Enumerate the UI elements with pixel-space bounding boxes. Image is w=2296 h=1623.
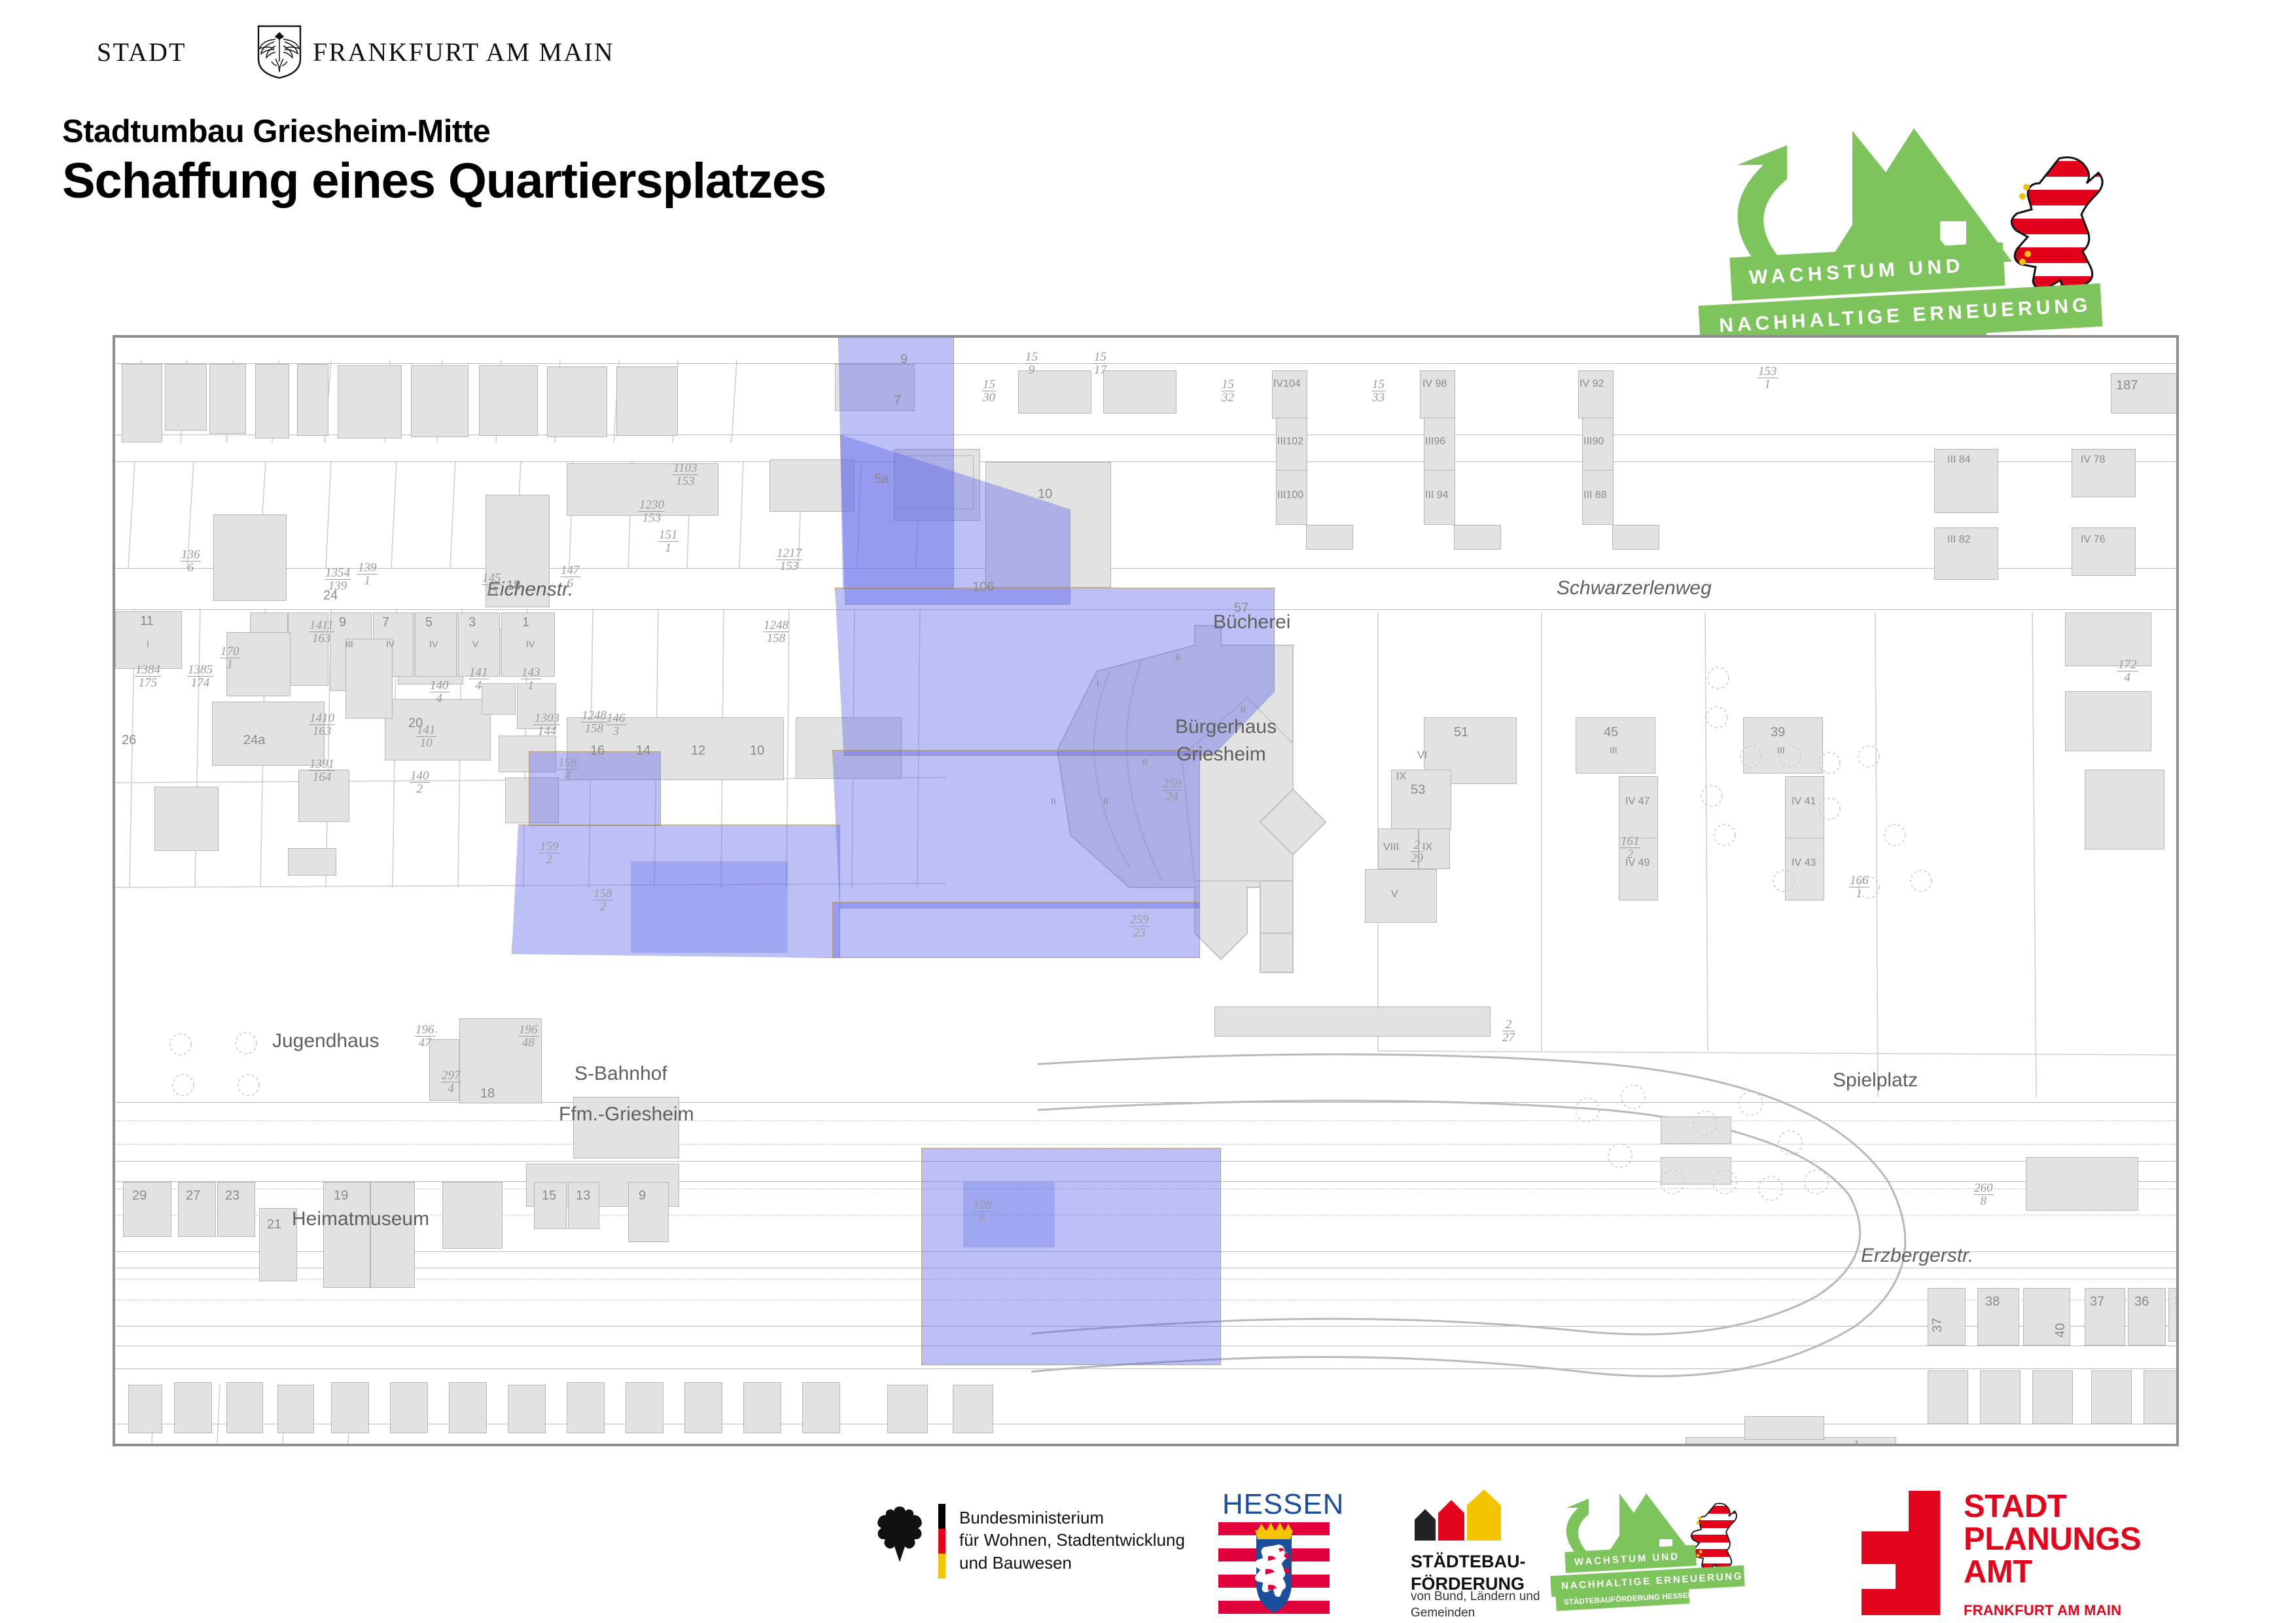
house-number: III 84 <box>1947 454 1971 466</box>
house-number: 9 <box>900 352 908 367</box>
house-number: 16 <box>590 743 605 758</box>
house-number: 29 <box>132 1188 147 1204</box>
house-number: 9 <box>339 615 346 630</box>
place-label-buecherei: Bücherei <box>1213 611 1290 633</box>
hessen-logo: HESSEN <box>1218 1488 1336 1613</box>
hessen-lion-icon <box>1999 149 2110 306</box>
house-number: 5a <box>874 472 889 487</box>
house-number: 23 <box>225 1188 239 1204</box>
spa-subline: FRANKFURT AM MAIN <box>1964 1602 2121 1619</box>
storey-mark: III <box>1777 745 1785 755</box>
house-number: 11 <box>140 614 154 629</box>
storey-mark: III <box>345 639 353 649</box>
sbf-sub1: von Bund, Ländern und <box>1411 1589 1540 1605</box>
house-number: 24a <box>243 733 265 748</box>
house-number: IV 41 <box>1792 796 1816 808</box>
spa-line1: STADT <box>1964 1491 2141 1524</box>
city-logo-text-right: FRANKFURT AM MAIN <box>313 37 614 67</box>
bmwsb-line2: für Wohnen, Stadtentwicklung <box>959 1529 1185 1551</box>
house-number: 36 <box>2134 1294 2149 1310</box>
house-number: 7 <box>894 393 901 408</box>
house-number: IV 92 <box>1580 378 1604 390</box>
flag-gold <box>938 1554 945 1578</box>
place-label-griesheim: Griesheim <box>1176 743 1266 766</box>
house-number: IV 98 <box>1422 378 1447 390</box>
place-label-heimatmuseum: Heimatmuseum <box>292 1208 429 1230</box>
footer-logos: Bundesministerium für Wohnen, Stadtentwi… <box>0 1472 2296 1623</box>
storey-mark: II <box>1241 704 1246 715</box>
storey-mark: IV <box>526 639 535 649</box>
house-number: 38 <box>1985 1294 2000 1310</box>
house-number: 9 <box>639 1188 646 1204</box>
house-number: 37 <box>2090 1294 2104 1310</box>
house-number: III100 <box>1277 490 1303 501</box>
house-number: 106 <box>972 580 994 595</box>
house-number: III102 <box>1277 436 1303 448</box>
bmwsb-logo: Bundesministerium für Wohnen, Stadtentwi… <box>870 1492 1210 1590</box>
storey-mark: III <box>1610 745 1617 755</box>
city-logo-text-left: STADT <box>97 37 186 67</box>
place-label-jugendhaus: Jugendhaus <box>272 1030 379 1052</box>
house-number: 19 <box>334 1188 348 1204</box>
house-number: 15 <box>542 1188 556 1204</box>
house-number: 18 <box>506 579 521 594</box>
storey-mark: V <box>472 639 478 649</box>
bmwsb-line1: Bundesministerium <box>959 1507 1185 1529</box>
program-logo-footer: WACHSTUM UND NACHHALTIGE ERNEUERUNG STÄD… <box>1557 1488 1799 1613</box>
street-label-schwarzerlenweg: Schwarzerlenweg <box>1557 577 1712 599</box>
house-number: 53 <box>1411 783 1425 798</box>
house-number: 21 <box>267 1217 281 1232</box>
house-number: III 94 <box>1425 490 1449 501</box>
city-of-frankfurt-logo: STADT FRANKFURT AM MAIN <box>97 34 516 80</box>
house-number: IV 76 <box>2081 534 2105 546</box>
house-number: 7 <box>382 615 389 630</box>
spa-line2: PLANUNGS <box>1964 1524 2141 1556</box>
house-number: 3 <box>468 615 476 630</box>
spa-line3: AMT <box>1964 1556 2141 1589</box>
eagle-crest-icon <box>256 22 303 79</box>
house-number: VIII <box>1383 842 1399 853</box>
house-number: III96 <box>1425 436 1445 448</box>
spa-mark-icon <box>1835 1491 1940 1615</box>
sbf-sub2: Gemeinden <box>1411 1605 1540 1622</box>
house-number: 37 <box>1930 1318 1945 1332</box>
hessen-wordmark: HESSEN <box>1222 1488 1344 1521</box>
page-title: Schaffung eines Quartiersplatzes <box>62 155 826 207</box>
house-number: 39 <box>1771 725 1785 740</box>
house-number: IX <box>1422 842 1432 853</box>
sbf-line1: STÄDTEBAU- <box>1411 1551 1526 1573</box>
house-number: IX <box>1396 771 1406 783</box>
house-number: 26 <box>122 733 136 748</box>
house-number: 18 <box>480 1086 495 1101</box>
place-label-spielplatz: Spielplatz <box>1833 1069 1918 1092</box>
houses-icon <box>1411 1489 1528 1543</box>
house-number: IV 47 <box>1625 796 1650 808</box>
storey-mark: II <box>1175 652 1180 662</box>
house-number: 40 <box>2053 1323 2068 1338</box>
house-number: 24 <box>323 588 338 603</box>
storey-mark: II <box>1051 796 1056 806</box>
storey-mark: I <box>1097 678 1099 688</box>
place-label-sbahnhof: S-Bahnhof <box>574 1063 667 1085</box>
house-number: III 82 <box>1947 534 1971 546</box>
house-number: 57 <box>1234 601 1248 616</box>
house-number: 35 <box>2175 1294 2179 1310</box>
house-number: V <box>1391 889 1398 901</box>
house-number: 14 <box>636 743 650 758</box>
house-number: 45 <box>1604 725 1618 740</box>
hessen-wappen-icon <box>1218 1522 1330 1617</box>
house-number: 1 <box>522 615 529 630</box>
house-number: 5 <box>425 615 433 630</box>
title-block: Stadtumbau Griesheim-Mitte Schaffung ein… <box>62 115 826 207</box>
storey-mark: IV <box>429 639 438 649</box>
house-number: IV 43 <box>1792 857 1816 869</box>
house-number: VI <box>1417 750 1427 762</box>
house-number: 27 <box>186 1188 200 1204</box>
storey-mark: II <box>1142 757 1148 767</box>
house-number: III90 <box>1583 436 1604 448</box>
place-label-buergerhaus: Bürgerhaus <box>1175 716 1277 738</box>
map-canvas: Eichenstr. Schwarzerlenweg Erzbergerstr.… <box>115 338 2176 1444</box>
house-number: 187 <box>2116 378 2138 393</box>
bundesadler-icon <box>870 1501 929 1567</box>
storey-mark: I <box>147 639 149 649</box>
house-number: IV 78 <box>2081 454 2105 466</box>
house-number: III 88 <box>1583 490 1607 501</box>
storey-mark: II <box>1103 796 1108 806</box>
flag-black <box>938 1504 945 1529</box>
house-number: 12 <box>691 743 705 758</box>
storey-mark: IV <box>386 639 395 649</box>
cadastral-map[interactable]: Eichenstr. Schwarzerlenweg Erzbergerstr.… <box>113 335 2179 1446</box>
house-number: 13 <box>576 1188 590 1204</box>
place-label-ffm-griesheim: Ffm.-Griesheim <box>559 1103 694 1126</box>
bmwsb-line3: und Bauwesen <box>959 1552 1185 1574</box>
house-number: 10 <box>1038 487 1052 502</box>
house-number: IV104 <box>1273 378 1301 390</box>
house-number: 20 <box>408 716 423 731</box>
flag-red <box>938 1529 945 1554</box>
street-label-erzbergerstr: Erzbergerstr. <box>1861 1245 1973 1267</box>
house-number: IV 49 <box>1625 857 1650 869</box>
project-subtitle: Stadtumbau Griesheim-Mitte <box>62 115 826 150</box>
stadtplanungsamt-logo: STADT PLANUNGS AMT FRANKFURT AM MAIN <box>1835 1488 2202 1616</box>
house-number: 51 <box>1454 725 1468 740</box>
house-number: 10 <box>750 743 764 758</box>
